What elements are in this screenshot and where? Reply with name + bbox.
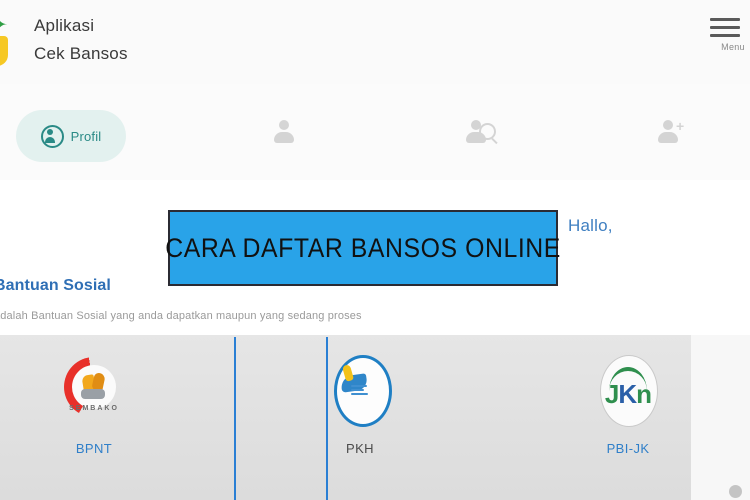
pkh-logo bbox=[325, 353, 395, 431]
sidebar-item-profil[interactable]: Profil bbox=[16, 110, 126, 162]
program-label-bpnt: BPNT bbox=[19, 441, 169, 456]
jkn-logo-word: JKn bbox=[602, 379, 654, 409]
search-icon bbox=[479, 123, 496, 140]
menu-label: Menu bbox=[710, 42, 750, 52]
program-card-pbi-jk[interactable]: JKn PBI-JK bbox=[553, 353, 703, 456]
shield-icon bbox=[0, 36, 8, 66]
nav-tab-user-search[interactable] bbox=[454, 114, 498, 154]
app-header: ✦ Aplikasi Cek Bansos Menu bbox=[0, 0, 750, 85]
card-divider bbox=[234, 337, 236, 500]
program-card-pkh[interactable]: PKH bbox=[285, 353, 435, 456]
cursor-speck bbox=[729, 485, 742, 498]
jkn-logo: JKn bbox=[593, 353, 663, 431]
section-subtitle: adalah Bantuan Sosial yang anda dapatkan… bbox=[0, 310, 362, 322]
app-screen: ✦ Aplikasi Cek Bansos Menu Profil bbox=[0, 0, 750, 500]
app-title: Aplikasi Cek Bansos bbox=[34, 12, 128, 68]
plus-icon: + bbox=[676, 120, 688, 132]
nav-tab-user-add[interactable]: + bbox=[646, 114, 690, 154]
program-card-bpnt[interactable]: SEMBAKO BPNT bbox=[19, 353, 169, 456]
app-title-line-2: Cek Bansos bbox=[34, 40, 128, 68]
greeting-text: Hallo, bbox=[568, 216, 613, 236]
nav-tab-user[interactable] bbox=[262, 114, 306, 154]
program-label-pbi-jk: PBI-JK bbox=[553, 441, 703, 456]
hamburger-menu-icon[interactable] bbox=[710, 18, 750, 37]
app-title-line-1: Aplikasi bbox=[34, 12, 128, 40]
user-icon bbox=[274, 120, 294, 144]
program-card-row: SEMBAKO BPNT PKH JKn PBI-JK bbox=[0, 335, 691, 500]
banner-overlay: CARA DAFTAR BANSOS ONLINE bbox=[168, 210, 558, 286]
menu-button[interactable]: Menu bbox=[710, 18, 750, 52]
user-circle-icon bbox=[41, 125, 64, 148]
leaf-shield-logo: ✦ bbox=[0, 12, 28, 70]
sembako-logo-word: SEMBAKO bbox=[65, 405, 123, 412]
banner-title: CARA DAFTAR BANSOS ONLINE bbox=[165, 233, 561, 264]
leaf-star-icon: ✦ bbox=[0, 12, 10, 38]
section-title: Bantuan Sosial bbox=[0, 277, 111, 295]
nav-tab-label-profil: Profil bbox=[71, 129, 102, 144]
user-add-icon bbox=[658, 120, 678, 144]
nav-strip: Profil + bbox=[0, 84, 750, 180]
sembako-logo: SEMBAKO bbox=[59, 353, 129, 431]
program-label-pkh: PKH bbox=[285, 441, 435, 456]
